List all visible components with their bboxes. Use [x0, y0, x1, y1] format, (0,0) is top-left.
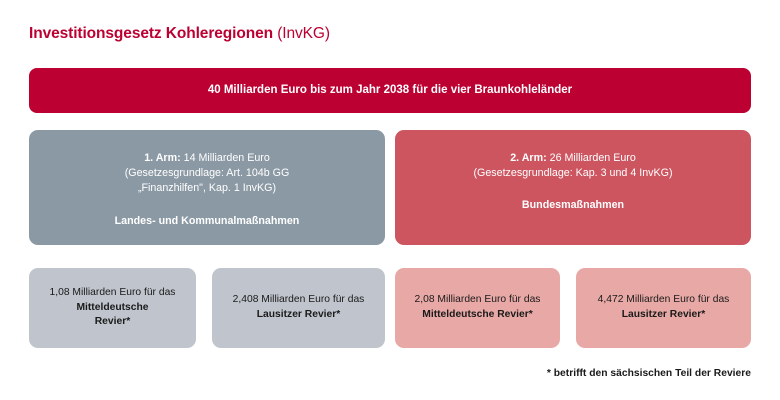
allocation-3-region-line1: Mitteldeutsche Revier* — [422, 309, 532, 320]
allocation-4-region-line1: Lausitzer Revier* — [622, 309, 706, 320]
arm-1-amount: 14 Milliarden Euro — [184, 152, 270, 164]
arm-2-box: 2. Arm: 26 Milliarden Euro (Gesetzesgrun… — [395, 130, 751, 245]
allocation-4-amount: 4,472 Milliarden Euro für das — [598, 294, 730, 305]
total-funding-banner: 40 Milliarden Euro bis zum Jahr 2038 für… — [29, 68, 751, 113]
arm-1-basis-line1: (Gesetzesgrundlage: Art. 104b GG — [125, 167, 290, 179]
arm-1-label: 1. Arm: — [144, 152, 180, 164]
page-title-main: Investitionsgesetz Kohleregionen — [29, 25, 273, 42]
arm-1-box: 1. Arm: 14 Milliarden Euro (Gesetzesgrun… — [29, 130, 385, 245]
allocation-1-region-line1: Mitteldeutsche — [76, 302, 148, 313]
arm-2-measures: Bundesmaßnahmen — [522, 198, 624, 213]
allocation-2-text: 2,408 Milliarden Euro für das Lausitzer … — [233, 293, 365, 322]
allocation-box-2: 2,408 Milliarden Euro für das Lausitzer … — [212, 268, 385, 348]
allocation-box-3: 2,08 Milliarden Euro für das Mitteldeuts… — [395, 268, 560, 348]
allocation-2-region-line1: Lausitzer Revier* — [257, 309, 341, 320]
allocation-1-amount: 1,08 Milliarden Euro für das — [50, 287, 176, 298]
allocation-4-text: 4,472 Milliarden Euro für das Lausitzer … — [598, 293, 730, 322]
total-funding-text: 40 Milliarden Euro bis zum Jahr 2038 für… — [208, 83, 572, 98]
arm-2-label: 2. Arm: — [510, 152, 546, 164]
allocation-box-1: 1,08 Milliarden Euro für das Mitteldeuts… — [29, 268, 196, 348]
allocation-1-text: 1,08 Milliarden Euro für das Mitteldeuts… — [50, 286, 176, 330]
allocation-1-region-line2: Revier* — [95, 316, 131, 327]
arm-2-amount: 26 Milliarden Euro — [550, 152, 636, 164]
footnote: * betrifft den sächsischen Teil der Revi… — [547, 368, 751, 379]
allocation-3-text: 2,08 Milliarden Euro für das Mitteldeuts… — [415, 293, 541, 322]
allocation-box-4: 4,472 Milliarden Euro für das Lausitzer … — [576, 268, 751, 348]
allocation-3-amount: 2,08 Milliarden Euro für das — [415, 294, 541, 305]
infographic-root: Investitionsgesetz Kohleregionen (InvKG)… — [0, 0, 780, 400]
page-title-abbrev: (InvKG) — [277, 25, 330, 42]
arm-2-header: 2. Arm: 26 Milliarden Euro (Gesetzesgrun… — [473, 151, 672, 181]
allocation-2-amount: 2,408 Milliarden Euro für das — [233, 294, 365, 305]
arm-1-header: 1. Arm: 14 Milliarden Euro (Gesetzesgrun… — [125, 151, 290, 197]
arm-2-basis-line1: (Gesetzesgrundlage: Kap. 3 und 4 InvKG) — [473, 167, 672, 179]
arm-1-measures: Landes- und Kommunalmaßnahmen — [115, 214, 300, 229]
arm-1-basis-line2: „Finanzhilfen", Kap. 1 InvKG) — [138, 182, 276, 194]
page-title: Investitionsgesetz Kohleregionen (InvKG) — [29, 25, 330, 43]
